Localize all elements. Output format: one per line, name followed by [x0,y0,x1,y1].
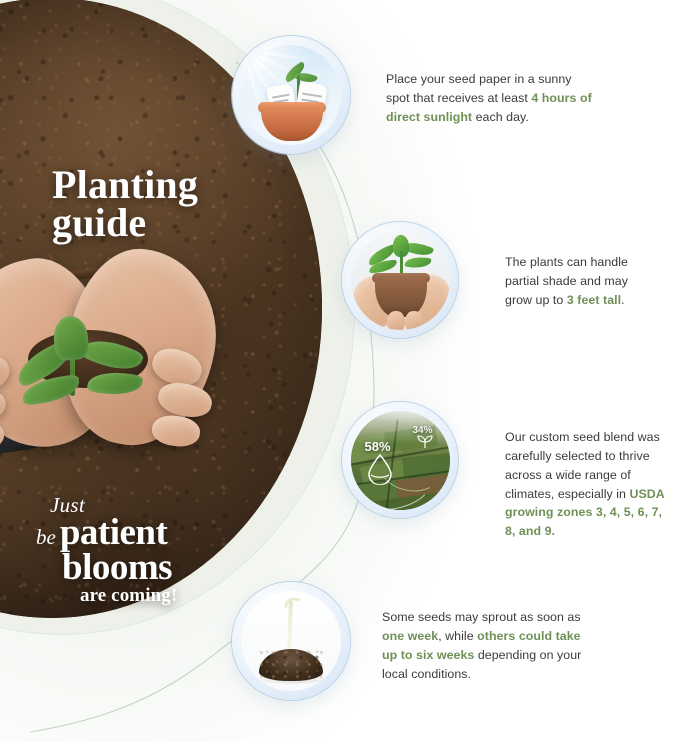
water-drop-icon [367,453,393,485]
step-text-sunlight: Place your seed paper in a sunny spot th… [386,70,596,127]
seed-paper-in-pot-sunlight-photo [241,45,341,145]
planting-guide-infographic: Planting guide Just be patient blooms ar… [0,0,679,742]
step-text-highlight: 3 feet tall [567,293,621,307]
step-text-part: each day. [472,110,529,124]
step-text-germination-time: Some seeds may sprout as soon as one wee… [382,608,594,683]
step-text-part: , while [438,629,477,643]
sprout-icon [415,435,435,449]
sprout-in-soil-mound-photo [241,591,341,691]
step-circle-growing-zones[interactable]: 34% 58% [342,402,458,518]
finger [387,311,405,330]
step-circle-shade-height[interactable] [342,222,458,338]
step-circle-sunlight[interactable] [232,36,350,154]
secondary-metric-label: 34% [413,425,433,436]
finger [405,311,423,330]
step-text-shade-height: The plants can handle partial shade and … [505,253,655,310]
step-text-growing-zones: Our custom seed blend was carefully sele… [505,428,670,541]
drop-shadow [257,675,327,685]
step-text-highlight: one week [382,629,438,643]
step-circle-germination-time[interactable] [232,582,350,700]
step-text-part: Some seeds may sprout as soon as [382,610,581,624]
hands-holding-potted-seedling-photo [351,231,450,330]
moisture-metric-label: 58% [365,439,391,454]
aerial-farmland-data-overlay-photo: 34% 58% [351,411,450,510]
clay-pot [375,277,427,317]
step-text-part: . [621,293,625,307]
